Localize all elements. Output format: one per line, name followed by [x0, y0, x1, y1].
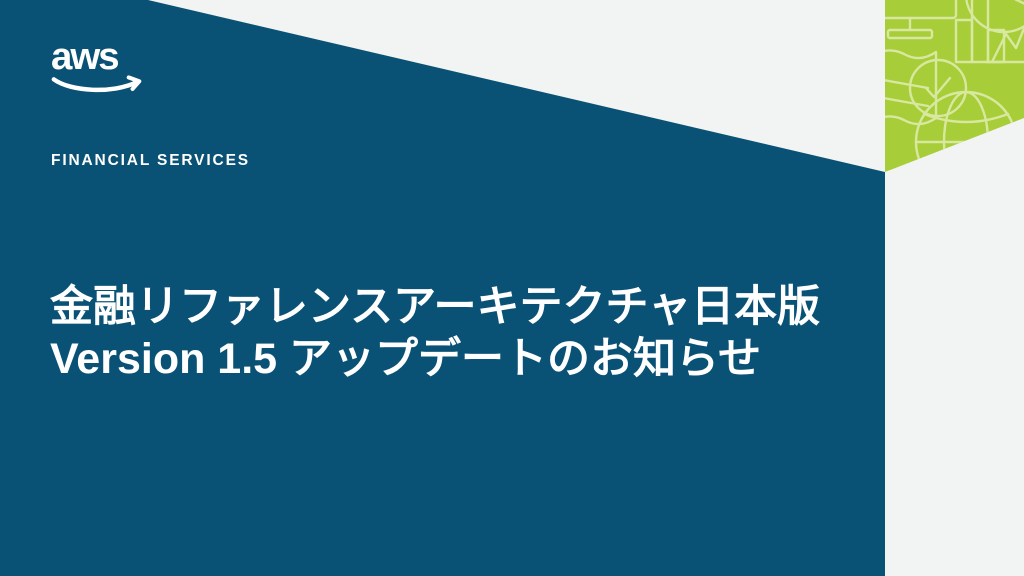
plant-coins-icon — [576, 16, 654, 116]
shield-check-icon — [872, 50, 966, 124]
piggy-bank-icon — [761, 7, 870, 97]
aws-wordmark-text: aws — [51, 35, 118, 78]
pie-chart-icon — [966, 0, 1024, 32]
line-chart-icon — [683, 13, 788, 115]
cash-register-icon — [502, 4, 598, 88]
slide-title-line-1: 金融リファレンスアーキテクチャ日本版 — [50, 281, 880, 333]
slide-title-line-2: Version 1.5 アップデートのお知らせ — [50, 333, 880, 385]
monitor-icon — [864, 0, 956, 38]
aws-smile-icon — [54, 77, 139, 89]
presentation-slide: aws FINANCIAL SERVICES 金融リファレンスアーキテクチャ日本… — [0, 0, 1024, 576]
globe-icon — [916, 92, 1016, 192]
slide-title: 金融リファレンスアーキテクチャ日本版 Version 1.5 アップデートのお知… — [50, 281, 880, 386]
monitor-icon — [432, 0, 522, 46]
division-label: FINANCIAL SERVICES — [51, 152, 250, 170]
aws-logo: aws — [50, 34, 146, 94]
